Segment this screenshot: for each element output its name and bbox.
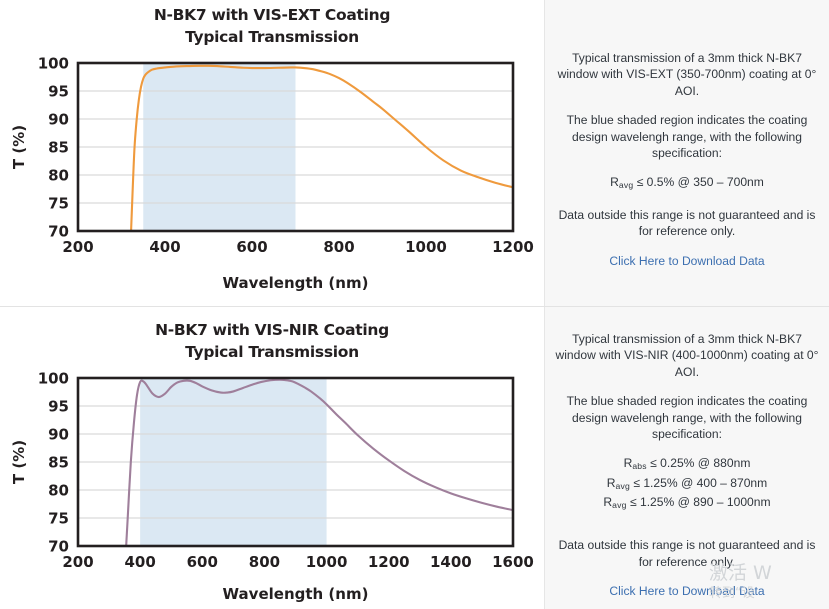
spec-symbol: R — [603, 495, 612, 509]
x-axis-tick-label: 200 — [62, 553, 93, 571]
section-vis-nir: N-BK7 with VIS-NIR Coating Typical Trans… — [0, 306, 829, 609]
description-body-vis-nir: Typical transmission of a 3mm thick N-BK… — [555, 331, 819, 600]
chart-title-line2: Typical Transmission — [0, 341, 544, 363]
specification-list-vis-nir: Rabs ≤ 0.25% @ 880nmRavg ≤ 1.25% @ 400 –… — [555, 455, 819, 513]
download-data-link-vis-nir[interactable]: Click Here to Download Data — [555, 583, 819, 599]
y-axis-tick-label: 75 — [48, 510, 69, 528]
chart-title-vis-ext: N-BK7 with VIS-EXT Coating Typical Trans… — [0, 4, 544, 48]
y-axis-tick-label: 95 — [48, 398, 69, 416]
chart-panel-vis-nir: N-BK7 with VIS-NIR Coating Typical Trans… — [0, 307, 545, 609]
spec-value: ≤ 0.5% @ 350 – 700nm — [633, 175, 764, 189]
description-paragraph-3: Data outside this range is not guarantee… — [555, 537, 819, 570]
description-body-vis-ext: Typical transmission of a 3mm thick N-BK… — [555, 50, 819, 269]
spec-subscript: avg — [616, 481, 630, 491]
y-axis-tick-label: 80 — [48, 167, 69, 185]
x-axis-tick-label: 600 — [187, 553, 218, 571]
y-axis-tick-label: 100 — [38, 55, 69, 73]
chart-title-line2: Typical Transmission — [0, 26, 544, 48]
transmission-plot-vis-nir: 7075808590951002004006008001000120014001… — [0, 361, 545, 609]
x-axis-tick-label: 400 — [149, 238, 180, 256]
x-axis-tick-label: 1000 — [405, 238, 447, 256]
specification-line: Ravg ≤ 0.5% @ 350 – 700nm — [555, 174, 819, 193]
spec-symbol: R — [610, 175, 619, 189]
section-vis-ext: N-BK7 with VIS-EXT Coating Typical Trans… — [0, 0, 829, 306]
x-axis-title: Wavelength (nm) — [223, 585, 369, 603]
chart-title-line1: N-BK7 with VIS-NIR Coating — [0, 319, 544, 341]
description-panel-vis-nir: Typical transmission of a 3mm thick N-BK… — [545, 307, 829, 609]
description-paragraph-2: The blue shaded region indicates the coa… — [555, 112, 819, 161]
download-data-link-vis-ext[interactable]: Click Here to Download Data — [555, 253, 819, 269]
x-axis-tick-label: 1200 — [492, 238, 534, 256]
y-axis-tick-label: 85 — [48, 454, 69, 472]
chart-title-vis-nir: N-BK7 with VIS-NIR Coating Typical Trans… — [0, 319, 544, 363]
spec-value: ≤ 0.25% @ 880nm — [647, 456, 751, 470]
x-axis-tick-label: 1000 — [306, 553, 348, 571]
y-axis-title: T (%) — [10, 125, 28, 169]
y-axis-title: T (%) — [10, 440, 28, 484]
x-axis-tick-label: 800 — [249, 553, 280, 571]
x-axis-tick-label: 200 — [62, 238, 93, 256]
y-axis-tick-label: 85 — [48, 139, 69, 157]
y-axis-tick-label: 75 — [48, 195, 69, 213]
spec-symbol: R — [607, 476, 616, 490]
spec-symbol: R — [624, 456, 633, 470]
description-paragraph-1: Typical transmission of a 3mm thick N-BK… — [555, 331, 819, 380]
page-root: N-BK7 with VIS-EXT Coating Typical Trans… — [0, 0, 829, 609]
x-axis-tick-label: 800 — [323, 238, 354, 256]
chart-title-line1: N-BK7 with VIS-EXT Coating — [0, 4, 544, 26]
x-axis-tick-label: 400 — [124, 553, 155, 571]
specification-line: Ravg ≤ 1.25% @ 890 – 1000nm — [555, 494, 819, 513]
x-axis-title: Wavelength (nm) — [223, 274, 369, 292]
spec-subscript: avg — [612, 500, 626, 510]
chart-panel-vis-ext: N-BK7 with VIS-EXT Coating Typical Trans… — [0, 0, 545, 306]
description-paragraph-1: Typical transmission of a 3mm thick N-BK… — [555, 50, 819, 99]
x-axis-tick-label: 1200 — [368, 553, 410, 571]
spec-value: ≤ 1.25% @ 400 – 870nm — [630, 476, 767, 490]
spec-value: ≤ 1.25% @ 890 – 1000nm — [627, 495, 771, 509]
y-axis-tick-label: 80 — [48, 482, 69, 500]
y-axis-tick-label: 100 — [38, 370, 69, 388]
spec-subscript: avg — [619, 180, 633, 190]
y-axis-tick-label: 95 — [48, 83, 69, 101]
spec-subscript: abs — [632, 461, 646, 471]
x-axis-tick-label: 1600 — [492, 553, 534, 571]
y-axis-tick-label: 90 — [48, 426, 69, 444]
x-axis-tick-label: 1400 — [430, 553, 472, 571]
description-panel-vis-ext: Typical transmission of a 3mm thick N-BK… — [545, 0, 829, 306]
description-paragraph-3: Data outside this range is not guarantee… — [555, 207, 819, 240]
x-axis-tick-label: 600 — [236, 238, 267, 256]
y-axis-tick-label: 90 — [48, 111, 69, 129]
specification-list-vis-ext: Ravg ≤ 0.5% @ 350 – 700nm — [555, 174, 819, 193]
description-paragraph-2: The blue shaded region indicates the coa… — [555, 393, 819, 442]
specification-line: Rabs ≤ 0.25% @ 880nm — [555, 455, 819, 474]
specification-line: Ravg ≤ 1.25% @ 400 – 870nm — [555, 475, 819, 494]
transmission-plot-vis-ext: 70758085909510020040060080010001200Wavel… — [0, 46, 545, 304]
